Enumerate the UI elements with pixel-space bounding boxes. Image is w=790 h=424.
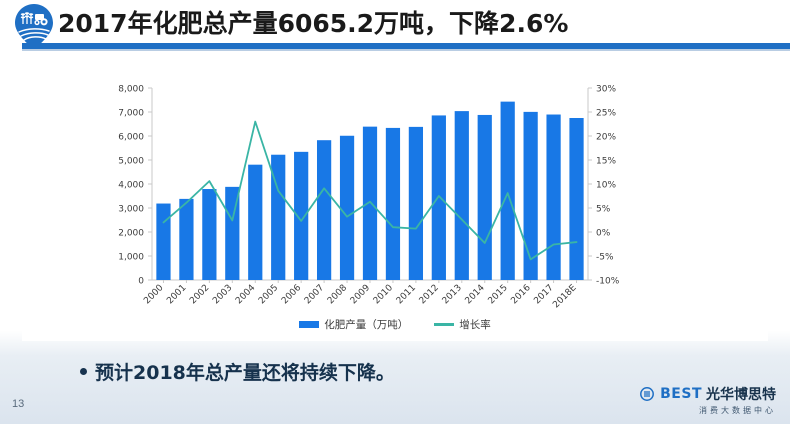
combo-chart: 01,0002,0003,0004,0005,0006,0007,0008,00…	[22, 56, 768, 316]
x-axis-tick-label: 2010	[372, 283, 395, 306]
y2-axis-tick-label: 30%	[596, 85, 616, 95]
x-axis-tick-label: 2005	[257, 283, 280, 306]
x-axis-tick-label: 2009	[349, 283, 372, 306]
x-axis-tick-label: 2014	[464, 283, 487, 306]
y-axis-tick-label: 0	[138, 277, 144, 287]
y-axis-tick-label: 5,000	[118, 157, 144, 167]
corporate-logo-main: BEST 光华博思特	[640, 384, 776, 404]
chart-card: 01,0002,0003,0004,0005,0006,0007,0008,00…	[22, 56, 768, 341]
page-number: 13	[12, 398, 24, 410]
chart-plot-area: 01,0002,0003,0004,0005,0006,0007,0008,00…	[22, 56, 768, 316]
y-axis-tick-label: 4,000	[118, 181, 144, 191]
y2-axis-tick-label: -5%	[596, 253, 614, 263]
chart-bar	[294, 152, 308, 280]
x-axis-tick-label: 2018E	[551, 283, 579, 311]
x-axis-tick-label: 2002	[188, 283, 211, 306]
y2-axis-tick-label: -10%	[596, 277, 620, 287]
chart-bar	[340, 136, 354, 280]
slide-header: 2017年化肥总产量6065.2万吨，下降2.6%	[0, 0, 790, 52]
chart-bar	[202, 189, 216, 280]
y2-axis-tick-label: 0%	[596, 229, 611, 239]
x-axis-tick-label: 2001	[165, 283, 188, 306]
chart-bar	[317, 140, 331, 280]
x-axis-tick-label: 2008	[326, 283, 349, 306]
page-title-text: 2017年化肥总产量6065.2万吨，下降2.6%	[58, 4, 568, 40]
corporate-logo-tagline: 消费大数据中心	[640, 405, 776, 416]
page-title: 2017年化肥总产量6065.2万吨，下降2.6%	[58, 2, 790, 42]
x-axis-tick-label: 2000	[142, 283, 165, 306]
legend-item-production: 化肥产量（万吨）	[299, 317, 408, 332]
chart-bar	[569, 118, 583, 280]
summary-bullet: 预计2018年总产量还将持续下降。	[80, 358, 395, 385]
legend-label-growth-rate: 增长率	[459, 317, 491, 332]
y-axis-tick-label: 8,000	[118, 85, 144, 95]
chart-bar	[478, 115, 492, 280]
x-axis-tick-label: 2004	[234, 283, 257, 306]
chart-bar	[432, 115, 446, 280]
y2-axis-tick-label: 15%	[596, 157, 616, 167]
x-axis-tick-label: 2013	[441, 283, 464, 306]
y-axis-tick-label: 7,000	[118, 109, 144, 119]
y-axis-tick-label: 1,000	[118, 253, 144, 263]
y2-axis-tick-label: 10%	[596, 181, 616, 191]
chart-bar	[409, 127, 423, 280]
chart-bar	[524, 112, 538, 280]
x-axis-tick-label: 2012	[418, 283, 441, 306]
x-axis-tick-label: 2003	[211, 283, 234, 306]
chart-bar	[248, 165, 262, 280]
chart-bar	[386, 128, 400, 280]
y-axis-tick-label: 6,000	[118, 133, 144, 143]
header-accent-rule-secondary	[22, 49, 790, 51]
y2-axis-tick-label: 25%	[596, 109, 616, 119]
y-axis-tick-label: 3,000	[118, 205, 144, 215]
x-axis-tick-label: 2011	[395, 283, 418, 306]
corporate-logo-mark: BEST	[660, 386, 702, 402]
chart-bar	[363, 127, 377, 280]
corporate-logo-name: 光华博思特	[706, 384, 776, 404]
legend-swatch-line-icon	[434, 323, 454, 326]
legend-item-growth-rate: 增长率	[434, 317, 491, 332]
legend-swatch-bar-icon	[299, 321, 319, 328]
bullet-dot-icon	[80, 368, 87, 375]
x-axis-tick-label: 2006	[280, 283, 303, 306]
chart-bar	[501, 102, 515, 280]
chart-bar	[179, 199, 193, 280]
corporate-logo: BEST 光华博思特 消费大数据中心	[640, 384, 776, 416]
x-axis-tick-label: 2007	[303, 283, 326, 306]
y2-axis-tick-label: 5%	[596, 205, 611, 215]
chart-bar	[156, 204, 170, 280]
y-axis-tick-label: 2,000	[118, 229, 144, 239]
x-axis-tick-label: 2016	[509, 283, 532, 306]
summary-bullet-text: 预计2018年总产量还将持续下降。	[95, 358, 395, 385]
best-mark-icon	[640, 387, 656, 401]
y2-axis-tick-label: 20%	[596, 133, 616, 143]
chart-legend: 化肥产量（万吨） 增长率	[22, 314, 768, 334]
x-axis-tick-label: 2015	[487, 283, 510, 306]
slide-root: 2017年化肥总产量6065.2万吨，下降2.6% 01,0002,0003,0…	[0, 0, 790, 424]
chart-bar	[455, 111, 469, 280]
chart-bar	[546, 115, 560, 280]
legend-label-production: 化肥产量（万吨）	[324, 317, 408, 332]
